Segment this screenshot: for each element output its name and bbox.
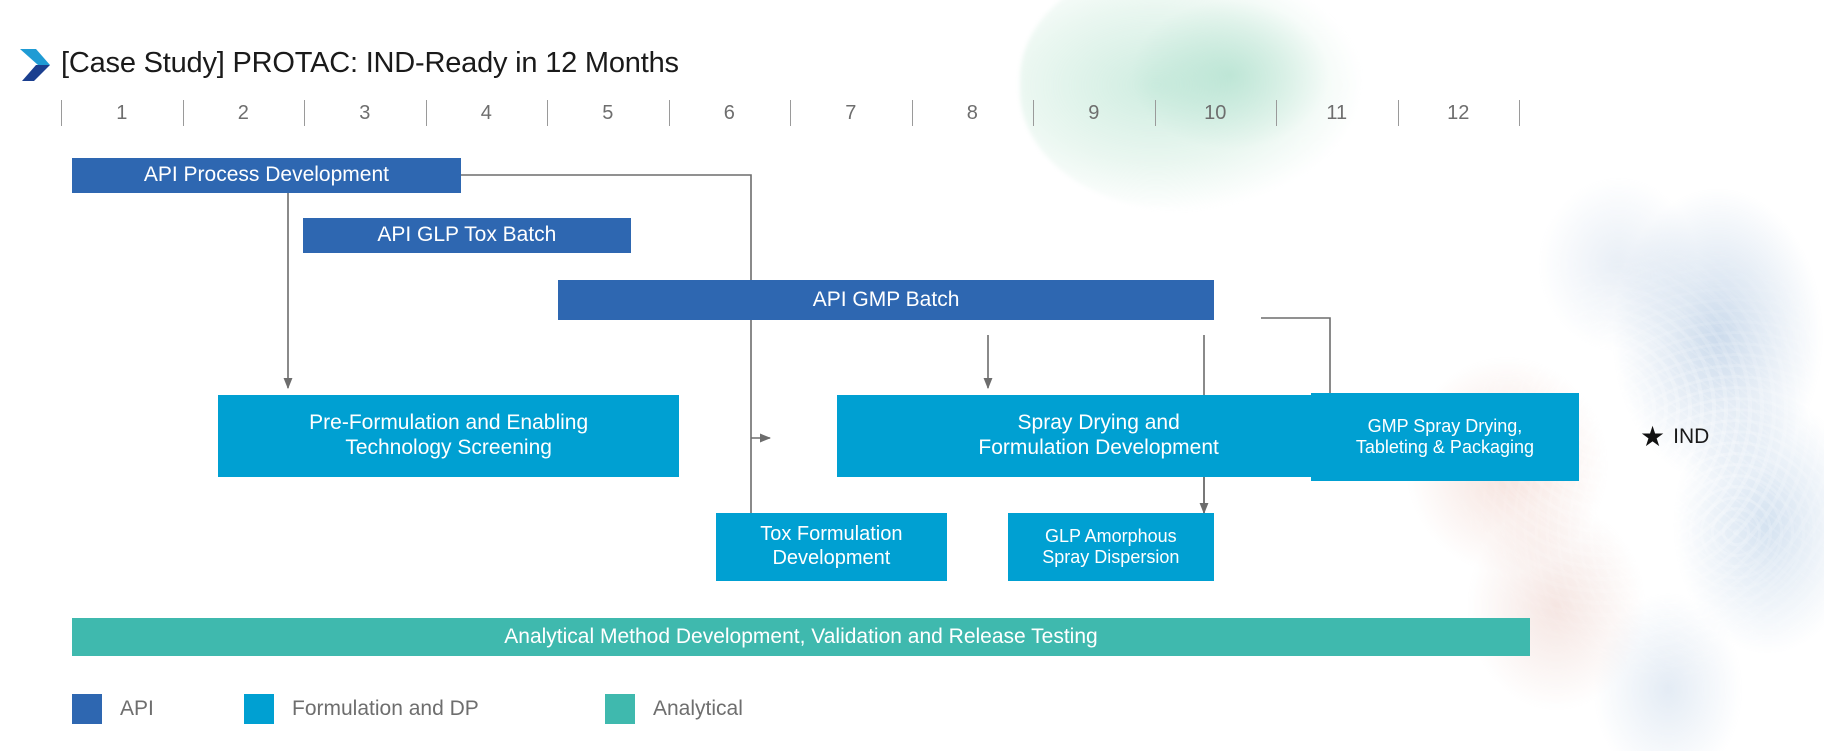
legend-item-api[interactable]: API (72, 694, 154, 724)
legend-swatch-analytical (605, 694, 635, 724)
task-box-api-process-development[interactable]: API Process Development (72, 158, 461, 193)
star-icon: ★ (1640, 423, 1665, 451)
legend-swatch-api (72, 694, 102, 724)
legend-item-analytical[interactable]: Analytical (605, 694, 743, 724)
ind-milestone: ★ IND (1640, 423, 1709, 451)
task-box-api-glp-tox-batch[interactable]: API GLP Tox Batch (303, 218, 631, 253)
task-box-analytical-method-development[interactable]: Analytical Method Development, Validatio… (72, 618, 1530, 656)
legend-swatch-formulation (244, 694, 274, 724)
legend: APIFormulation and DPAnalytical (0, 694, 1824, 736)
timeline-infographic: [Case Study] PROTAC: IND-Ready in 12 Mon… (0, 0, 1824, 751)
ind-label: IND (1673, 425, 1709, 449)
legend-label-formulation: Formulation and DP (292, 697, 479, 721)
task-box-api-gmp-batch[interactable]: API GMP Batch (558, 280, 1214, 320)
legend-label-analytical: Analytical (653, 697, 743, 721)
legend-item-formulation[interactable]: Formulation and DP (244, 694, 479, 724)
task-box-glp-amorphous-spray-dispersion[interactable]: GLP Amorphous Spray Dispersion (1008, 513, 1215, 581)
task-box-pre-formulation-screening[interactable]: Pre-Formulation and Enabling Technology … (218, 395, 680, 477)
task-box-spray-drying-formulation[interactable]: Spray Drying and Formulation Development (837, 395, 1359, 477)
task-box-gmp-spray-drying-tableting[interactable]: GMP Spray Drying, Tableting & Packaging (1311, 393, 1578, 481)
legend-label-api: API (120, 697, 154, 721)
task-box-tox-formulation-development[interactable]: Tox Formulation Development (716, 513, 947, 581)
